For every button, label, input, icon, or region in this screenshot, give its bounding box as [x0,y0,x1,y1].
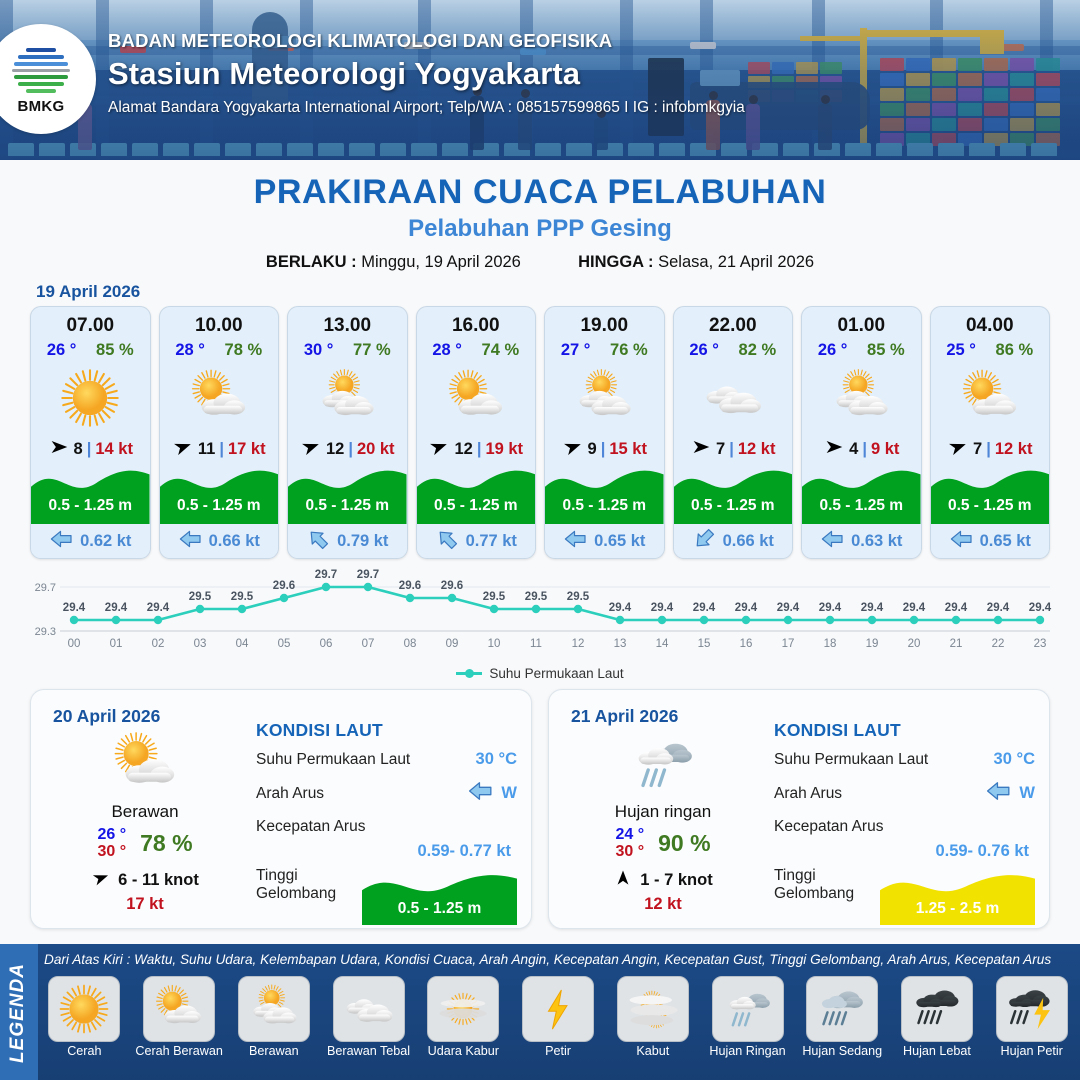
wind-speed: 9 [588,440,597,459]
svg-text:29.6: 29.6 [399,580,421,592]
sst-label: Suhu Permukaan Laut [256,751,410,769]
sst-label: Suhu Permukaan Laut [774,751,928,769]
current-speed-value: 0.59- 0.76 kt [774,842,1035,861]
sst-value: 30 °C [994,750,1035,769]
forecast-time: 04.00 [931,307,1050,337]
legend-item-label: Berawan [229,1044,318,1058]
weather-cerah-icon [31,362,150,434]
valid-from-label: BERLAKU : [266,253,357,271]
legend-item-label: Hujan Lebat [893,1044,982,1058]
header-agency-name: BADAN METEOROLOGI KLIMATOLOGI DAN GEOFIS… [108,30,745,52]
svg-text:20: 20 [908,638,921,650]
daily-humidity: 78 % [140,830,192,857]
forecast-card[interactable]: 10.00 28 ° 78 % 11 | 17 kt [159,306,280,559]
legend-item: Hujan Lebat [893,976,982,1058]
forecast-time: 22.00 [674,307,793,337]
forecast-date-label: 19 April 2026 [36,282,1080,302]
svg-text:06: 06 [320,638,333,650]
daily-temp-block: 26 ° 30 ° 78 % [45,826,245,861]
wave-row: Tinggi Gelombang 1.25 - 2.5 m [774,867,1035,925]
current-speed: 0.62 kt [80,532,131,551]
weather-hujan-sedang-icon [806,976,878,1042]
wind-direction-arrow-icon [300,436,322,463]
current-direction-arrow-icon [820,527,844,556]
current-speed-row: Kecepatan Arus [774,818,1035,836]
wave-height-value: 0.5 - 1.25 m [31,497,150,515]
wind-separator: | [729,440,734,459]
weather-berawan-tebal-icon [333,976,405,1042]
daily-humidity: 90 % [658,830,710,857]
legend-item: Berawan Tebal [324,976,413,1058]
svg-text:29.4: 29.4 [903,602,926,614]
forecast-time: 01.00 [802,307,921,337]
valid-until-label: HINGGA : [578,253,653,271]
svg-text:12: 12 [572,638,585,650]
legend-item: Petir [514,976,603,1058]
page-header: BMKG BADAN METEOROLOGI KLIMATOLOGI DAN G… [0,0,1080,160]
svg-text:15: 15 [698,638,711,650]
valid-until-value: Selasa, 21 April 2026 [658,253,814,271]
forecast-card[interactable]: 04.00 25 ° 86 % 7 | 12 kt [930,306,1051,559]
humidity: 85 % [867,341,905,360]
forecast-card[interactable]: 22.00 26 ° 82 % 7 | 12 [673,306,794,559]
daily-summary-left: Hujan ringan 24 ° 30 ° 90 % 1 - 7 knot 1… [563,728,763,914]
forecast-time: 07.00 [31,307,150,337]
daily-temp-block: 24 ° 30 ° 90 % [563,826,763,861]
forecast-card[interactable]: 16.00 28 ° 74 % 12 | 19 kt [416,306,537,559]
current-row: 0.65 kt [545,524,664,558]
current-direction-value: W [501,784,517,803]
svg-text:29.4: 29.4 [651,602,674,614]
svg-text:05: 05 [278,638,291,650]
svg-text:29.5: 29.5 [525,591,548,603]
svg-text:29.6: 29.6 [441,580,463,592]
gust-speed: 19 kt [485,440,523,459]
sea-conditions: KONDISI LAUT Suhu Permukaan Laut 30 °C A… [774,720,1035,925]
wave-row: Tinggi Gelombang 0.5 - 1.25 m [256,867,517,925]
weather-udara-kabur-icon [427,976,499,1042]
daily-condition: Hujan ringan [563,802,763,822]
weather-cerah-berawan-icon [931,362,1050,434]
svg-text:21: 21 [950,638,963,650]
wave-height-value: 0.5 - 1.25 m [288,497,407,515]
wind-row: 7 | 12 kt [674,434,793,464]
wave-height-value: 0.5 - 1.25 m [417,497,536,515]
wave-height-value: 1.25 - 2.5 m [880,900,1035,918]
current-speed: 0.66 kt [209,532,260,551]
air-temperature: 27 ° [561,341,591,360]
chart-legend-label: Suhu Permukaan Laut [489,666,623,681]
wave-height-band: 0.5 - 1.25 m [417,462,536,524]
wind-direction-arrow-icon [562,436,584,463]
svg-text:29.5: 29.5 [189,591,212,603]
wind-row: 8 | 14 kt [31,434,150,464]
current-speed: 0.79 kt [337,532,388,551]
daily-date: 20 April 2026 [53,706,160,727]
current-speed-value: 0.59- 0.77 kt [256,842,517,861]
current-direction-arrow-icon [985,778,1011,809]
humidity: 76 % [610,341,648,360]
wind-direction-arrow-icon [613,868,633,893]
svg-text:29.4: 29.4 [1029,602,1052,614]
wind-speed: 11 [198,440,215,459]
humidity: 86 % [996,341,1034,360]
current-speed: 0.65 kt [594,532,645,551]
legend-item: Hujan Ringan [703,976,792,1058]
bmkg-logo-text: BMKG [17,98,64,115]
wave-height-value: 0.5 - 1.25 m [674,497,793,515]
header-station-name: Stasiun Meteorologi Yogyakarta [108,56,745,92]
forecast-card[interactable]: 13.00 30 ° 77 % 12 | 2 [287,306,408,559]
sst-chart-svg: 29.729.329.40029.40129.40229.50329.50429… [26,569,1054,664]
forecast-temp-humidity: 26 ° 85 % [802,341,921,360]
legend-item: Hujan Petir [987,976,1076,1058]
wave-height-band: 0.5 - 1.25 m [545,462,664,524]
wind-row: 4 | 9 kt [802,434,921,464]
legend-item-label: Hujan Petir [987,1044,1076,1058]
daily-gust: 12 kt [563,895,763,914]
legend-item-label: Hujan Sedang [798,1044,887,1058]
svg-text:16: 16 [740,638,753,650]
gust-speed: 15 kt [609,440,647,459]
weather-berawan-icon [802,362,921,434]
svg-text:29.5: 29.5 [231,591,254,603]
current-direction-arrow-icon [49,527,73,556]
wind-speed: 7 [716,440,725,459]
current-row: 0.65 kt [931,524,1050,558]
wave-height-value: 0.5 - 1.25 m [931,497,1050,515]
current-row: 0.79 kt [288,524,407,558]
svg-text:29.4: 29.4 [777,602,800,614]
wind-separator: | [601,440,606,459]
current-row: 0.77 kt [417,524,536,558]
current-direction-arrow-icon [178,527,202,556]
current-direction-arrow-icon [467,778,493,809]
wind-direction-arrow-icon [48,436,70,463]
current-row: 0.66 kt [160,524,279,558]
svg-text:29.4: 29.4 [987,602,1010,614]
daily-wind-row: 6 - 11 knot [45,868,245,893]
svg-text:29.4: 29.4 [735,602,758,614]
sst-row: Suhu Permukaan Laut 30 °C [774,750,1035,769]
valid-from-value: Minggu, 19 April 2026 [361,253,521,271]
current-direction-arrow-icon [949,527,973,556]
legend-item-label: Hujan Ringan [703,1044,792,1058]
air-temperature: 28 ° [175,341,205,360]
wind-separator: | [219,440,224,459]
hourly-forecast-row: 07.00 26 ° 85 % 8 | 14 kt 0.5 - 1.25 [0,306,1080,559]
daily-condition: Berawan [45,802,245,822]
svg-text:02: 02 [152,638,165,650]
wave-height-band: 0.5 - 1.25 m [288,462,407,524]
weather-hujan-ringan-icon [712,976,784,1042]
legend-tab-label: LEGENDA [7,953,29,1073]
wind-row: 12 | 20 kt [288,434,407,464]
wind-direction-arrow-icon [947,436,969,463]
wind-separator: | [986,440,991,459]
weather-berawan-icon [238,976,310,1042]
current-speed-label: Kecepatan Arus [256,818,365,836]
daily-summary-left: Berawan 26 ° 30 ° 78 % 6 - 11 knot 17 kt [45,728,245,914]
wave-height-band: 0.5 - 1.25 m [31,462,150,524]
gust-speed: 12 kt [738,440,776,459]
forecast-temp-humidity: 30 ° 77 % [288,341,407,360]
svg-text:29.5: 29.5 [483,591,506,603]
weather-kabut-icon [617,976,689,1042]
header-text-block: BADAN METEOROLOGI KLIMATOLOGI DAN GEOFIS… [108,30,745,117]
svg-text:07: 07 [362,638,375,650]
current-row: 0.62 kt [31,524,150,558]
wind-speed: 12 [326,440,344,459]
svg-text:14: 14 [656,638,669,650]
current-direction-arrow-icon [306,527,330,556]
daily-wind-range: 6 - 11 knot [118,871,199,890]
legend-item: Berawan [229,976,318,1058]
humidity: 77 % [353,341,391,360]
svg-text:29.5: 29.5 [567,591,590,603]
svg-text:10: 10 [488,638,501,650]
gust-speed: 17 kt [228,440,266,459]
wind-row: 9 | 15 kt [545,434,664,464]
humidity: 85 % [96,341,134,360]
svg-text:29.4: 29.4 [147,602,170,614]
page-subtitle: Pelabuhan PPP Gesing [0,215,1080,243]
legend-item: Hujan Sedang [798,976,887,1058]
current-speed: 0.77 kt [466,532,517,551]
svg-text:29.4: 29.4 [693,602,716,614]
daily-temp-max: 30 ° [97,843,126,860]
bmkg-logo-globe [10,44,72,96]
weather-cerah-berawan-icon [160,362,279,434]
svg-text:22: 22 [992,638,1005,650]
forecast-temp-humidity: 26 ° 85 % [31,341,150,360]
svg-text:17: 17 [782,638,795,650]
wind-row: 7 | 12 kt [931,434,1050,464]
gust-speed: 14 kt [95,440,133,459]
current-direction-label: Arah Arus [774,785,842,803]
wave-height-band: 0.5 - 1.25 m [160,462,279,524]
wind-row: 11 | 17 kt [160,434,279,464]
wind-speed: 12 [454,440,472,459]
forecast-temp-humidity: 28 ° 78 % [160,341,279,360]
legend-bar: LEGENDA Dari Atas Kiri : Waktu, Suhu Uda… [0,944,1080,1080]
forecast-temp-humidity: 28 ° 74 % [417,341,536,360]
current-direction-arrow-icon [435,527,459,556]
header-address: Alamat Bandara Yogyakarta International … [108,99,745,117]
sea-conditions: KONDISI LAUT Suhu Permukaan Laut 30 °C A… [256,720,517,925]
sst-value: 30 °C [476,750,517,769]
weather-cerah-berawan-icon [417,362,536,434]
weather-berawan-icon [288,362,407,434]
sea-conditions-title: KONDISI LAUT [256,720,517,741]
wind-speed: 7 [973,440,982,459]
wave-label: Tinggi Gelombang [774,867,880,903]
legend-item: Kabut [608,976,697,1058]
svg-text:08: 08 [404,638,417,650]
forecast-card[interactable]: 19.00 27 ° 76 % 9 | 15 [544,306,665,559]
humidity: 82 % [739,341,777,360]
current-speed: 0.66 kt [723,532,774,551]
forecast-temp-humidity: 27 ° 76 % [545,341,664,360]
wind-direction-arrow-icon [428,436,450,463]
svg-text:29.4: 29.4 [63,602,86,614]
svg-text:29.4: 29.4 [609,602,632,614]
wave-height-band: 0.5 - 1.25 m [674,462,793,524]
svg-text:04: 04 [236,638,249,650]
forecast-time: 13.00 [288,307,407,337]
weather-berawan-icon [545,362,664,434]
validity-row: BERLAKU : Minggu, 19 April 2026 HINGGA :… [0,253,1080,272]
legend-tab: LEGENDA [0,944,38,1080]
weather-petir-icon [522,976,594,1042]
chart-legend: Suhu Permukaan Laut [0,666,1080,681]
current-row: 0.63 kt [802,524,921,558]
legend-items: Cerah Cerah Berawan [40,976,1076,1058]
current-speed: 0.65 kt [980,532,1031,551]
current-speed-row: Kecepatan Arus [256,818,517,836]
legend-item-label: Kabut [608,1044,697,1058]
weather-cerah-berawan-icon [143,976,215,1042]
current-row: 0.66 kt [674,524,793,558]
wind-direction-arrow-icon [91,868,111,893]
legend-item: Cerah Berawan [135,976,224,1058]
gust-speed: 9 kt [871,440,899,459]
wave-height-value: 0.5 - 1.25 m [160,497,279,515]
svg-text:18: 18 [824,638,837,650]
wind-direction-arrow-icon [690,436,712,463]
chart-legend-swatch [456,672,482,675]
page-title: PRAKIRAAN CUACA PELABUHAN [0,173,1080,212]
svg-text:29.4: 29.4 [819,602,842,614]
legend-item-label: Cerah [40,1044,129,1058]
legend-item-label: Udara Kabur [419,1044,508,1058]
svg-text:29.7: 29.7 [357,569,379,581]
weather-cerah-icon [48,976,120,1042]
wave-height-band: 0.5 - 1.25 m [802,462,921,524]
air-temperature: 30 ° [304,341,334,360]
svg-text:19: 19 [866,638,879,650]
wave-height-band: 1.25 - 2.5 m [880,867,1035,925]
forecast-temp-humidity: 26 ° 82 % [674,341,793,360]
legend-item: Udara Kabur [419,976,508,1058]
wind-separator: | [862,440,867,459]
sst-row: Suhu Permukaan Laut 30 °C [256,750,517,769]
current-direction-label: Arah Arus [256,785,324,803]
svg-text:00: 00 [68,638,81,650]
forecast-card[interactable]: 07.00 26 ° 85 % 8 | 14 kt 0.5 - 1.25 [30,306,151,559]
legend-item: Cerah [40,976,129,1058]
wave-height-band: 0.5 - 1.25 m [362,867,517,925]
current-direction-row: Arah Arus W [774,778,1035,809]
weather-hujan-lebat-icon [901,976,973,1042]
daily-forecast-row: 20 April 2026 Berawan 26 ° 30 ° 78 [0,681,1080,929]
wave-height-value: 0.5 - 1.25 m [802,497,921,515]
wave-label: Tinggi Gelombang [256,867,362,903]
current-speed-label: Kecepatan Arus [774,818,883,836]
current-direction-value: W [1019,784,1035,803]
air-temperature: 25 ° [946,341,976,360]
current-speed: 0.63 kt [851,532,902,551]
legend-item-label: Berawan Tebal [324,1044,413,1058]
daily-temp-max: 30 ° [615,843,644,860]
legend-item-label: Petir [514,1044,603,1058]
svg-text:29.4: 29.4 [861,602,884,614]
forecast-time: 16.00 [417,307,536,337]
wind-separator: | [477,440,482,459]
svg-text:29.3: 29.3 [35,626,56,638]
wind-separator: | [348,440,353,459]
daily-gust: 17 kt [45,895,245,914]
forecast-time: 19.00 [545,307,664,337]
title-block: PRAKIRAAN CUACA PELABUHAN Pelabuhan PPP … [0,173,1080,272]
svg-text:03: 03 [194,638,207,650]
wave-height-value: 0.5 - 1.25 m [545,497,664,515]
gust-speed: 12 kt [995,440,1033,459]
wind-direction-arrow-icon [172,436,194,463]
sea-conditions-title: KONDISI LAUT [774,720,1035,741]
svg-text:23: 23 [1034,638,1047,650]
svg-text:01: 01 [110,638,123,650]
gust-speed: 20 kt [357,440,395,459]
wind-row: 12 | 19 kt [417,434,536,464]
wind-speed: 4 [849,440,858,459]
forecast-card[interactable]: 01.00 26 ° 85 % 4 | 9 [801,306,922,559]
humidity: 74 % [482,341,520,360]
svg-text:13: 13 [614,638,627,650]
wind-separator: | [87,440,92,459]
weather-hujan-ringan-icon [563,728,763,800]
svg-text:29.4: 29.4 [945,602,968,614]
forecast-temp-humidity: 25 ° 86 % [931,341,1050,360]
weather-cerah-berawan-icon [45,728,245,800]
forecast-time: 10.00 [160,307,279,337]
wave-height-value: 0.5 - 1.25 m [362,900,517,918]
daily-date: 21 April 2026 [571,706,678,727]
humidity: 78 % [225,341,263,360]
current-direction-row: Arah Arus W [256,778,517,809]
daily-temp-min: 24 ° [615,826,644,843]
wind-direction-arrow-icon [823,436,845,463]
svg-text:29.7: 29.7 [315,569,337,581]
weather-berawan-tebal-icon [674,362,793,434]
air-temperature: 26 ° [818,341,848,360]
svg-text:11: 11 [530,638,542,650]
current-direction-arrow-icon [692,527,716,556]
legend-note: Dari Atas Kiri : Waktu, Suhu Udara, Kele… [44,952,1051,967]
wind-speed: 8 [74,440,83,459]
wave-height-band: 0.5 - 1.25 m [931,462,1050,524]
daily-forecast-panel[interactable]: 21 April 2026 Hujan ringan 24 ° [548,689,1050,929]
current-direction-arrow-icon [563,527,587,556]
air-temperature: 26 ° [689,341,719,360]
daily-forecast-panel[interactable]: 20 April 2026 Berawan 26 ° 30 ° 78 [30,689,532,929]
air-temperature: 28 ° [432,341,462,360]
daily-wind-row: 1 - 7 knot [563,868,763,893]
air-temperature: 26 ° [47,341,77,360]
daily-wind-range: 1 - 7 knot [640,871,712,890]
svg-text:29.4: 29.4 [105,602,128,614]
svg-text:29.6: 29.6 [273,580,295,592]
svg-text:09: 09 [446,638,459,650]
legend-item-label: Cerah Berawan [135,1044,224,1058]
svg-text:29.7: 29.7 [35,582,56,594]
weather-hujan-petir-icon [996,976,1068,1042]
sst-chart: 29.729.329.40029.40129.40229.50329.50429… [26,569,1054,664]
daily-temp-min: 26 ° [97,826,126,843]
